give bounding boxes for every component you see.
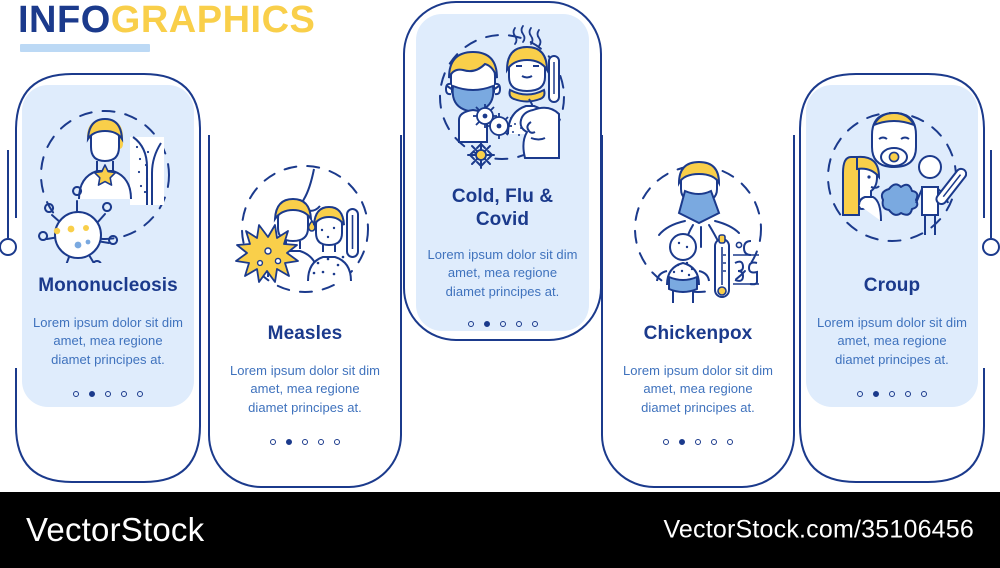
step-dot-active[interactable]	[873, 391, 879, 397]
vectorstock-brand: VectorStock	[26, 511, 204, 549]
card-description: Lorem ipsum dolor sit dim amet, mea regi…	[229, 362, 381, 417]
card-title: Mononucleosis	[38, 275, 178, 298]
card-panel: Measles Lorem ipsum dolor sit dim amet, …	[219, 141, 391, 471]
card-step-dots[interactable]	[68, 391, 148, 397]
card-cold-flu-covid[interactable]: Cold, Flu & Covid Lorem ipsum dolor sit …	[400, 0, 605, 345]
step-dot[interactable]	[921, 391, 927, 397]
step-dot-active[interactable]	[484, 321, 490, 327]
step-dot-active[interactable]	[89, 391, 95, 397]
card-description: Lorem ipsum dolor sit dim amet, mea regi…	[427, 246, 579, 301]
card-illustration	[817, 95, 967, 263]
card-illustration	[425, 24, 580, 174]
step-dot[interactable]	[270, 439, 276, 445]
card-title: Measles	[268, 323, 343, 346]
card-description: Lorem ipsum dolor sit dim amet, mea regi…	[622, 362, 774, 417]
card-chickenpox[interactable]: Chickenpox Lorem ipsum dolor sit dim ame…	[598, 135, 798, 490]
card-illustration	[33, 95, 183, 263]
card-description: Lorem ipsum dolor sit dim amet, mea regi…	[816, 314, 968, 369]
step-dot[interactable]	[532, 321, 538, 327]
card-step-dots[interactable]	[463, 321, 543, 327]
card-panel: Mononucleosis Lorem ipsum dolor sit dim …	[22, 85, 194, 407]
step-dot[interactable]	[500, 321, 506, 327]
card-panel: Chickenpox Lorem ipsum dolor sit dim ame…	[612, 141, 784, 471]
card-step-dots[interactable]	[658, 439, 738, 445]
card-mononucleosis[interactable]: Mononucleosis Lorem ipsum dolor sit dim …	[8, 68, 208, 488]
step-dot[interactable]	[711, 439, 717, 445]
step-dot[interactable]	[516, 321, 522, 327]
card-illustration	[230, 151, 380, 311]
card-title: Croup	[864, 275, 920, 298]
step-dot[interactable]	[468, 321, 474, 327]
card-illustration	[623, 151, 773, 311]
footer-watermark-bar: VectorStock VectorStock.com/35106456	[0, 492, 1000, 568]
step-dot[interactable]	[663, 439, 669, 445]
card-description: Lorem ipsum dolor sit dim amet, mea regi…	[32, 314, 184, 369]
step-dot[interactable]	[105, 391, 111, 397]
step-dot-active[interactable]	[286, 439, 292, 445]
step-dot[interactable]	[73, 391, 79, 397]
vectorstock-url: VectorStock.com/35106456	[663, 516, 974, 545]
card-step-dots[interactable]	[265, 439, 345, 445]
card-title: Cold, Flu & Covid	[438, 186, 568, 232]
card-step-dots[interactable]	[852, 391, 932, 397]
step-dot-active[interactable]	[679, 439, 685, 445]
step-dot[interactable]	[905, 391, 911, 397]
step-dot[interactable]	[727, 439, 733, 445]
step-dot[interactable]	[121, 391, 127, 397]
step-dot[interactable]	[857, 391, 863, 397]
step-dot[interactable]	[889, 391, 895, 397]
step-dot[interactable]	[318, 439, 324, 445]
card-panel: Cold, Flu & Covid Lorem ipsum dolor sit …	[416, 14, 589, 331]
card-panel: Croup Lorem ipsum dolor sit dim amet, me…	[806, 85, 978, 407]
step-dot[interactable]	[137, 391, 143, 397]
step-dot[interactable]	[334, 439, 340, 445]
card-croup[interactable]: Croup Lorem ipsum dolor sit dim amet, me…	[792, 68, 992, 488]
infographic-stage: Mononucleosis Lorem ipsum dolor sit dim …	[0, 0, 1000, 492]
card-measles[interactable]: Measles Lorem ipsum dolor sit dim amet, …	[205, 135, 405, 490]
step-dot[interactable]	[302, 439, 308, 445]
step-dot[interactable]	[695, 439, 701, 445]
card-title: Chickenpox	[644, 323, 753, 346]
